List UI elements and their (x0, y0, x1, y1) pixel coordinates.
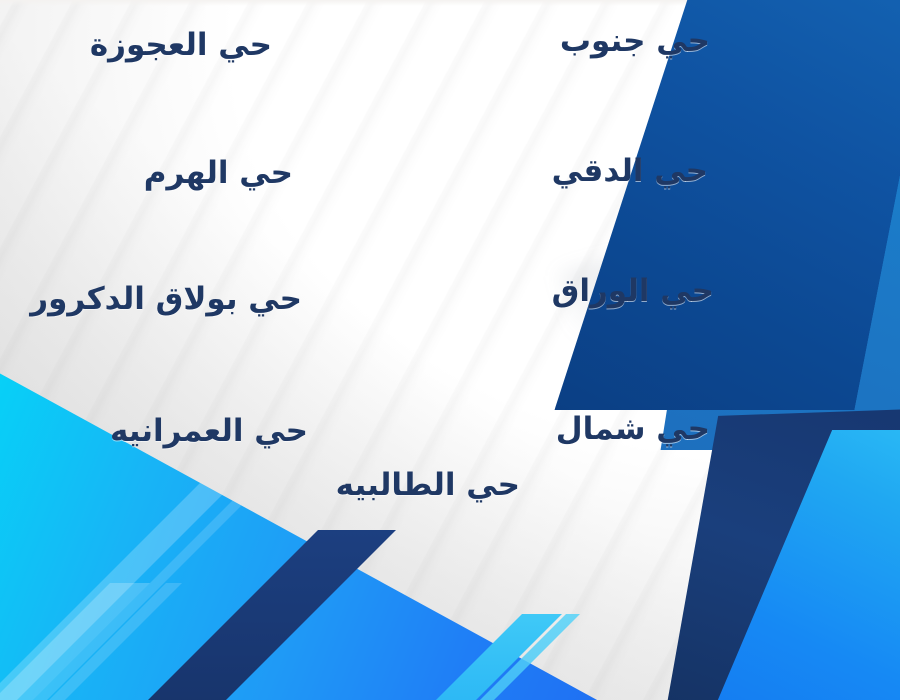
district-label-dokki: حي الدقي (552, 154, 708, 188)
district-label-janoub: حي جنوب (560, 24, 710, 58)
district-label-haram: حي الهرم (144, 156, 293, 190)
district-label-omraneya: حي العمرانيه (110, 414, 308, 448)
district-label-talbia: حي الطالبيه (336, 468, 520, 502)
district-label-agouza: حي العجوزة (90, 28, 272, 62)
district-label-warraq: حي الوراق (552, 274, 714, 308)
district-label-shamal: حي شمال (556, 412, 710, 446)
district-label-bulaq-dakrour: حي بولاق الدكرور (30, 282, 302, 316)
slide-canvas: حي العجوزة حي الهرم حي بولاق الدكرور حي … (0, 0, 900, 700)
